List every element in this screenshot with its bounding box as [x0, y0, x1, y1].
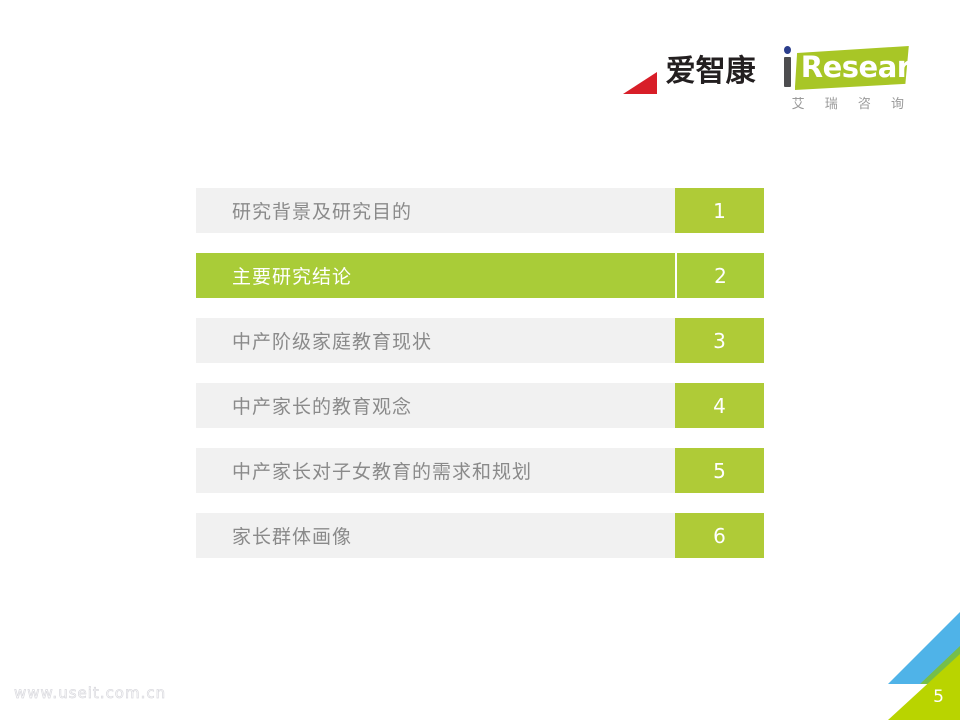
toc-item-label: 中产家长的教育观念	[196, 383, 675, 428]
logo-bar: 爱智康 Research 艾 瑞 咨 询	[623, 44, 912, 112]
toc-item-label: 主要研究结论	[196, 253, 675, 298]
corner-decoration	[888, 612, 960, 720]
page-number: 5	[933, 689, 944, 706]
toc-item-number: 1	[675, 188, 764, 233]
aizhikang-red-triangle-icon	[623, 72, 657, 94]
iresearch-i-dot-icon	[784, 46, 791, 54]
toc-row[interactable]: 家长群体画像 6	[196, 513, 764, 558]
toc-item-label: 中产家长对子女教育的需求和规划	[196, 448, 675, 493]
toc-item-label: 研究背景及研究目的	[196, 188, 675, 233]
aizhikang-mark-icon	[623, 50, 657, 94]
iresearch-mark-icon: Research	[781, 44, 909, 92]
table-of-contents: 研究背景及研究目的 1 主要研究结论 2 中产阶级家庭教育现状 3 中产家长的教…	[196, 188, 764, 558]
toc-row[interactable]: 中产家长的教育观念 4	[196, 383, 764, 428]
toc-item-number: 3	[675, 318, 764, 363]
toc-row[interactable]: 中产家长对子女教育的需求和规划 5	[196, 448, 764, 493]
toc-item-number: 4	[675, 383, 764, 428]
toc-row[interactable]: 研究背景及研究目的 1	[196, 188, 764, 233]
toc-item-number: 2	[675, 253, 764, 298]
toc-item-label: 家长群体画像	[196, 513, 675, 558]
aizhikang-logo: 爱智康	[623, 50, 756, 94]
toc-item-label: 中产阶级家庭教育现状	[196, 318, 675, 363]
toc-item-number: 6	[675, 513, 764, 558]
iresearch-subtitle: 艾 瑞 咨 询	[778, 93, 912, 112]
toc-item-number: 5	[675, 448, 764, 493]
iresearch-logo: Research 艾 瑞 咨 询	[778, 44, 912, 112]
iresearch-wordmark: Research	[801, 50, 948, 84]
toc-row[interactable]: 主要研究结论 2	[196, 253, 764, 298]
toc-row[interactable]: 中产阶级家庭教育现状 3	[196, 318, 764, 363]
aizhikang-wordmark: 爱智康	[666, 57, 756, 87]
iresearch-i-stem-icon	[784, 57, 791, 87]
slide-canvas: 爱智康 Research 艾 瑞 咨 询 研究背景及研究目的 1 主要研究结论 …	[0, 0, 960, 720]
site-watermark: www.useit.com.cn	[14, 684, 166, 702]
